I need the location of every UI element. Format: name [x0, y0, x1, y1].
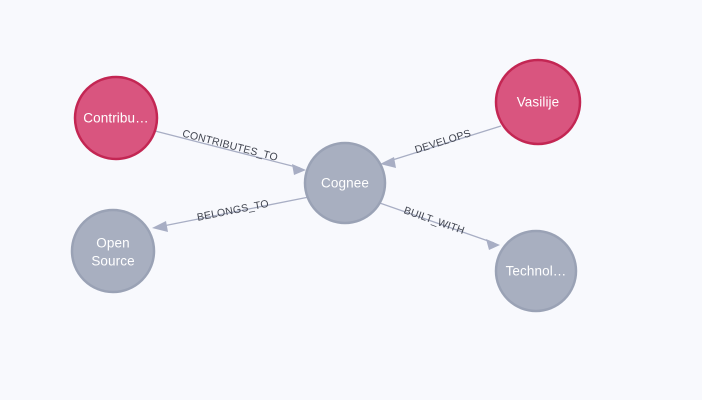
- node-layer: Contribu… Vasilije Cognee Open Source Te…: [72, 60, 580, 311]
- node-contributors[interactable]: Contribu…: [75, 77, 157, 159]
- edge-label-contributes-to: CONTRIBUTES_TO: [181, 128, 279, 164]
- graph-canvas[interactable]: CONTRIBUTES_TO DEVELOPS BELONGS_TO BUILT…: [0, 0, 702, 400]
- node-circle-vasilije[interactable]: [496, 60, 580, 144]
- node-circle-cognee[interactable]: [305, 143, 385, 223]
- edge-built-with[interactable]: BUILT_WITH: [377, 202, 500, 250]
- node-circle-technology[interactable]: [496, 231, 576, 311]
- graph-visualization[interactable]: CONTRIBUTES_TO DEVELOPS BELONGS_TO BUILT…: [0, 0, 702, 400]
- edge-belongs-to[interactable]: BELONGS_TO: [152, 197, 309, 232]
- node-technology[interactable]: Technol…: [496, 231, 576, 311]
- edge-label-belongs-to: BELONGS_TO: [196, 198, 270, 224]
- arrowhead-built-with: [486, 239, 500, 250]
- edge-label-built-with: BUILT_WITH: [402, 205, 466, 238]
- edge-contributes-to[interactable]: CONTRIBUTES_TO: [155, 128, 306, 175]
- arrowhead-belongs-to: [152, 221, 168, 232]
- node-open-source[interactable]: Open Source: [72, 210, 154, 292]
- edge-develops[interactable]: DEVELOPS: [380, 126, 501, 168]
- node-cognee[interactable]: Cognee: [305, 143, 385, 223]
- edge-label-develops: DEVELOPS: [413, 127, 472, 156]
- node-circle-contributors[interactable]: [75, 77, 157, 159]
- arrowhead-contributes-to: [292, 164, 306, 175]
- node-circle-open-source[interactable]: [72, 210, 154, 292]
- node-vasilije[interactable]: Vasilije: [496, 60, 580, 144]
